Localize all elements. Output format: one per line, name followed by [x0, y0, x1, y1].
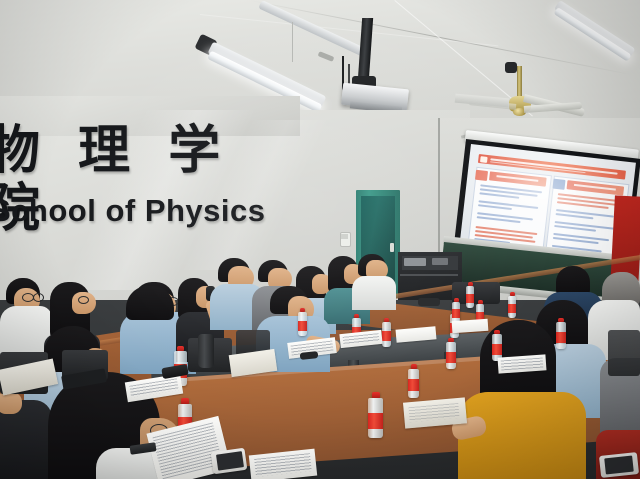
meeting-room-photo: 物 理 学 院 School of Physics	[0, 0, 640, 479]
av-cabinet-shelf	[400, 274, 458, 276]
table-cable-port[interactable]	[418, 298, 440, 306]
water-bottle[interactable]	[368, 392, 383, 438]
smartphone[interactable]	[211, 448, 248, 475]
water-bottle[interactable]	[492, 330, 502, 361]
notebook[interactable]	[403, 397, 467, 428]
av-device	[404, 258, 426, 266]
wall-sign-english: School of Physics	[0, 193, 290, 229]
ceiling-fan-rod	[517, 66, 522, 100]
water-bottle[interactable]	[556, 318, 566, 349]
water-bottle[interactable]	[408, 364, 419, 398]
glasses	[33, 293, 44, 302]
water-bottle[interactable]	[382, 318, 391, 347]
water-bottle[interactable]	[466, 282, 474, 308]
water-bottle[interactable]	[452, 298, 460, 323]
water-bottle[interactable]	[298, 308, 307, 336]
chair[interactable]	[608, 330, 640, 376]
av-device	[432, 258, 448, 265]
door-handle[interactable]	[390, 243, 394, 252]
smartphone[interactable]	[599, 452, 639, 478]
lamp-suspension-rod	[292, 22, 293, 62]
paper-handout[interactable]	[498, 354, 547, 373]
light-switch-rocker[interactable]	[341, 234, 348, 239]
water-bottle[interactable]	[446, 338, 456, 369]
thermos-tumbler[interactable]	[198, 334, 214, 368]
water-bottle[interactable]	[508, 292, 516, 318]
paper-handout[interactable]	[452, 319, 489, 333]
ceiling-fan-canopy	[505, 62, 517, 73]
